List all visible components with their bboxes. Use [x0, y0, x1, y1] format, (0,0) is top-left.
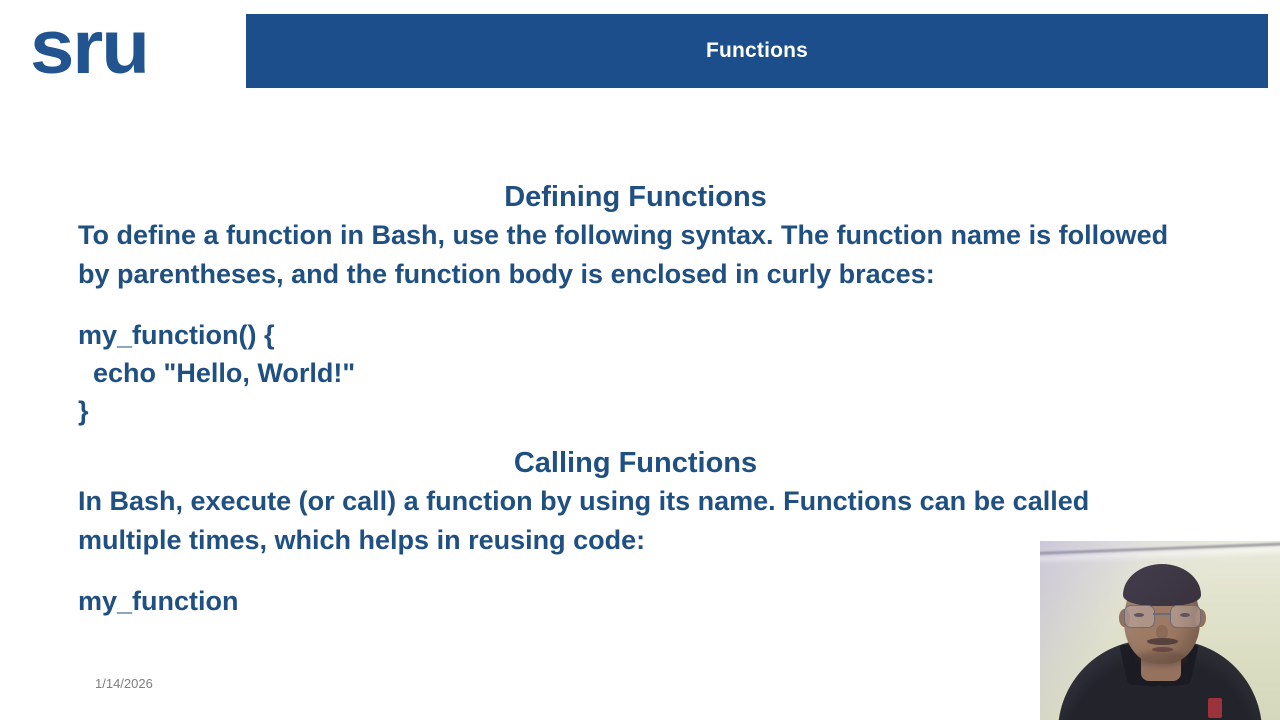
slide-title-bar: Functions	[246, 14, 1268, 88]
presenter-video-overlay[interactable]	[1040, 541, 1280, 720]
slide-date: 1/14/2026	[95, 676, 153, 691]
spacer	[78, 294, 1193, 316]
calling-functions-code: my_function	[78, 582, 1193, 620]
defining-functions-paragraph: To define a function in Bash, use the fo…	[78, 216, 1193, 294]
glasses-lens-right	[1170, 605, 1201, 628]
shirt-logo-patch	[1208, 698, 1222, 718]
spacer	[78, 560, 1193, 582]
sru-logo-text: sru	[30, 10, 148, 86]
defining-functions-code: my_function() { echo "Hello, World!" }	[78, 316, 1193, 430]
slide-content: Defining Functions To define a function …	[78, 178, 1193, 620]
presenter-chin-shadow	[1136, 651, 1188, 667]
presenter-mustache	[1147, 638, 1178, 645]
presenter-nose	[1156, 625, 1168, 639]
defining-functions-heading: Defining Functions	[78, 178, 1193, 216]
glasses-bridge	[1153, 613, 1170, 615]
calling-functions-heading: Calling Functions	[78, 444, 1193, 482]
sru-logo: sru	[30, 8, 230, 88]
glasses-lens-left	[1124, 605, 1155, 628]
presenter-glasses	[1123, 605, 1201, 627]
slide-header: sru Functions	[0, 0, 1280, 100]
slide-title: Functions	[706, 39, 808, 63]
calling-functions-paragraph: In Bash, execute (or call) a function by…	[78, 482, 1193, 560]
spacer	[78, 430, 1193, 444]
